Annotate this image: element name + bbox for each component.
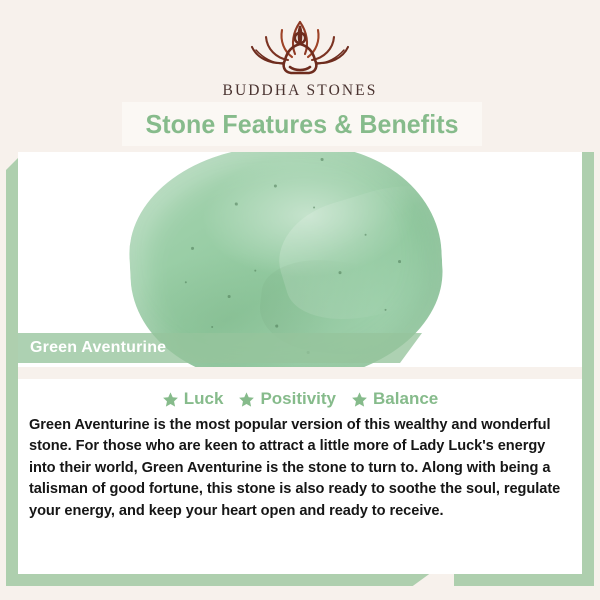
star-icon: [162, 391, 179, 408]
divider-strip: [18, 367, 582, 379]
stone-info-area: Luck Positivity Balance Green Aventurine…: [18, 367, 582, 574]
benefit-item-luck: Luck: [162, 389, 224, 409]
page-title: Stone Features & Benefits: [145, 109, 458, 140]
benefit-item-positivity: Positivity: [238, 389, 336, 409]
benefit-label: Balance: [373, 389, 438, 409]
brand-header: BUDDHA STONES: [0, 0, 600, 112]
title-banner: Stone Features & Benefits: [122, 102, 482, 146]
benefits-row: Luck Positivity Balance: [18, 389, 582, 409]
benefit-label: Positivity: [260, 389, 336, 409]
stone-name-band: Green Aventurine: [18, 333, 422, 363]
stone-description: Green Aventurine is the most popular ver…: [29, 415, 571, 522]
brand-name: BUDDHA STONES: [223, 82, 378, 100]
lotus-meditation-icon: [238, 14, 362, 80]
benefit-label: Luck: [184, 389, 224, 409]
benefit-item-balance: Balance: [351, 389, 438, 409]
star-icon: [351, 391, 368, 408]
star-icon: [238, 391, 255, 408]
stone-name-label: Green Aventurine: [30, 339, 166, 357]
